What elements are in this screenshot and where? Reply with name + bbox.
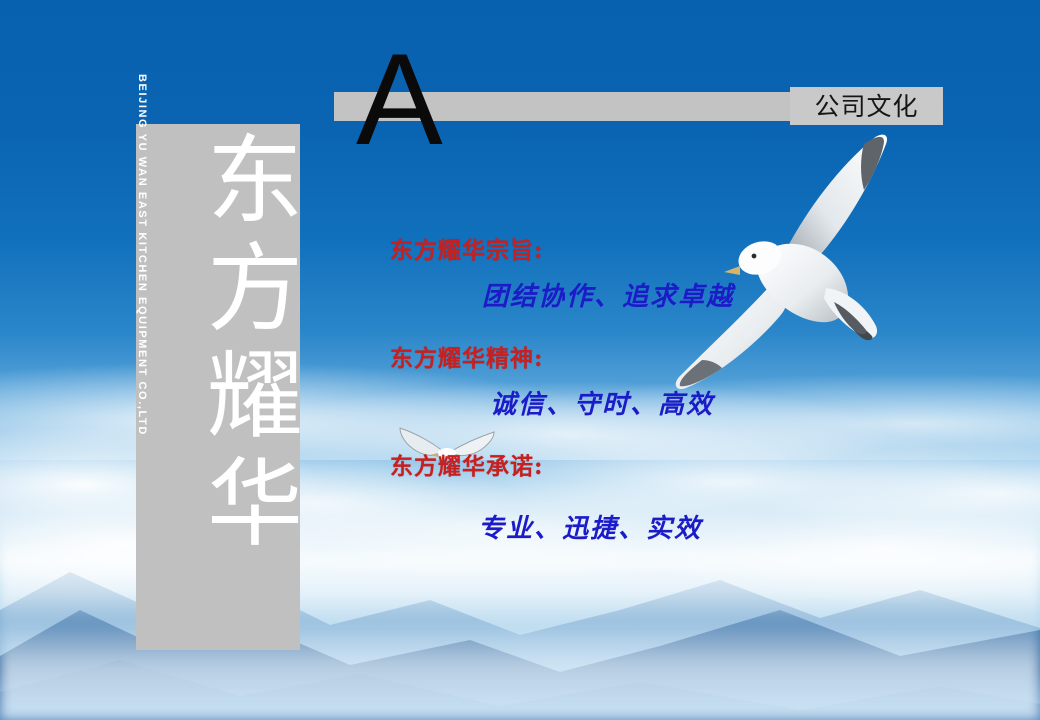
brand-char-1: 东 bbox=[196, 128, 314, 236]
culture-content: 东方耀华宗旨: 团结协作、追求卓越 东方耀华精神: 诚信、守时、高效 东方耀华承… bbox=[390, 238, 930, 544]
brand-char-4: 华 bbox=[196, 451, 314, 559]
culture-heading: 东方耀华承诺: bbox=[390, 454, 930, 479]
section-letter: A bbox=[356, 34, 443, 164]
culture-block-purpose: 东方耀华宗旨: 团结协作、追求卓越 bbox=[390, 238, 930, 312]
culture-block-spirit: 东方耀华精神: 诚信、守时、高效 bbox=[390, 346, 930, 420]
culture-body: 团结协作、追求卓越 bbox=[482, 283, 930, 312]
culture-body: 诚信、守时、高效 bbox=[490, 391, 930, 420]
slide-canvas: 公司文化 A 东 方 耀 华 BEIJING YU WAN EAST KITCH… bbox=[0, 0, 1040, 720]
brand-name-english: BEIJING YU WAN EAST KITCHEN EQUIPMENT CO… bbox=[136, 74, 148, 414]
page-title: 公司文化 bbox=[814, 94, 918, 119]
header-title-box: 公司文化 bbox=[790, 87, 943, 125]
brand-char-2: 方 bbox=[196, 236, 314, 344]
brand-name-vertical: 东 方 耀 华 bbox=[196, 128, 314, 558]
brand-char-3: 耀 bbox=[196, 343, 314, 451]
culture-heading: 东方耀华宗旨: bbox=[390, 238, 930, 263]
culture-block-promise: 东方耀华承诺: 专业、迅捷、实效 bbox=[390, 454, 930, 544]
culture-heading: 东方耀华精神: bbox=[390, 346, 930, 371]
culture-body: 专业、迅捷、实效 bbox=[478, 515, 930, 544]
